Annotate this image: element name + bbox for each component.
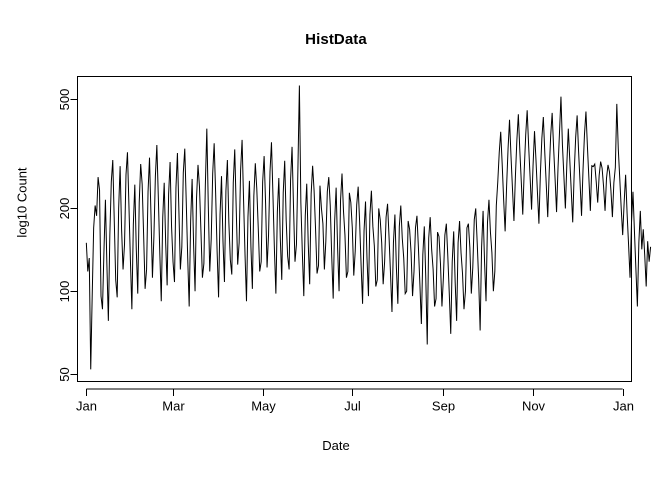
plot-area: 50100200500 JanMarMayJulSepNovJan <box>0 0 672 480</box>
plot-frame <box>78 77 632 382</box>
y-tick-label: 500 <box>57 89 72 111</box>
x-tick-label: Nov <box>522 399 546 414</box>
y-axis: 50100200500 <box>57 89 78 382</box>
chart-canvas: HistData log10 Count Date 50100200500 Ja… <box>0 0 672 480</box>
x-tick-label: Sep <box>432 399 455 414</box>
x-tick-label: Jul <box>344 399 361 414</box>
x-axis: JanMarMayJulSepNovJan <box>76 389 634 414</box>
data-series-line <box>86 85 650 369</box>
x-tick-label: Jan <box>76 399 97 414</box>
x-tick-label: Jan <box>613 399 634 414</box>
x-tick-label: May <box>251 399 276 414</box>
y-tick-label: 100 <box>57 281 72 303</box>
y-tick-label: 50 <box>57 367 72 381</box>
x-tick-label: Mar <box>162 399 185 414</box>
y-tick-label: 200 <box>57 198 72 220</box>
